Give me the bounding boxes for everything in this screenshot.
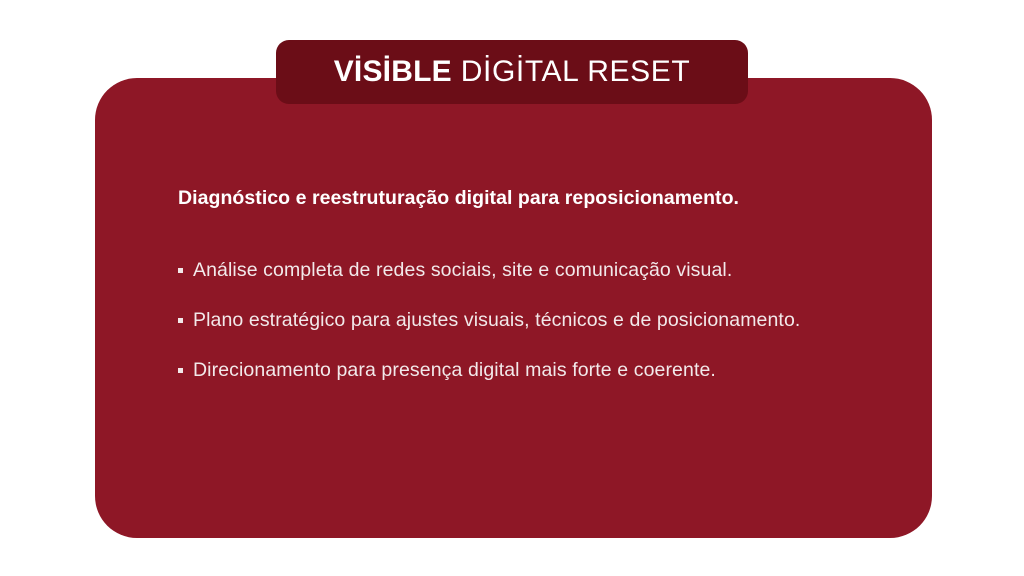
list-item-label: Plano estratégico para ajustes visuais, … (193, 307, 878, 334)
bullet-list: Análise completa de redes sociais, site … (178, 257, 878, 384)
card-content: Diagnóstico e reestruturação digital par… (178, 186, 878, 384)
header-tab: VİSİBLE DİGİTAL RESET (276, 40, 748, 104)
list-item-label: Análise completa de redes sociais, site … (193, 257, 878, 284)
square-bullet-icon (178, 318, 183, 323)
square-bullet-icon (178, 368, 183, 373)
square-bullet-icon (178, 268, 183, 273)
list-item: Análise completa de redes sociais, site … (178, 257, 878, 284)
list-item: Plano estratégico para ajustes visuais, … (178, 307, 878, 334)
brand-name: VİSİBLE (334, 55, 452, 88)
card-subtitle: Diagnóstico e reestruturação digital par… (178, 186, 878, 211)
page-title: VİSİBLE DİGİTAL RESET (334, 57, 691, 87)
list-item: Direcionamento para presença digital mai… (178, 357, 878, 384)
list-item-label: Direcionamento para presença digital mai… (193, 357, 878, 384)
slide-canvas: VİSİBLE DİGİTAL RESET Diagnóstico e rees… (0, 0, 1024, 576)
title-rest: DİGİTAL RESET (452, 55, 690, 88)
